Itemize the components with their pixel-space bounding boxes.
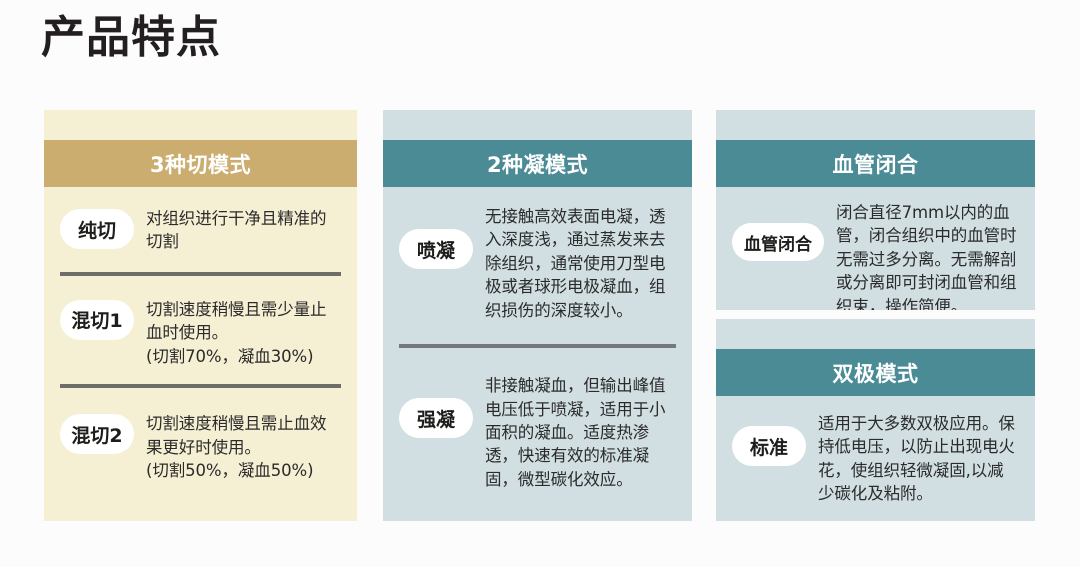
- card-bipolar-mode: 双极模式 标准 适用于大多数双极应用。保持低电压，以防止出现电火花，使组织轻微凝…: [716, 319, 1035, 521]
- mode-description: 切割速度稍慢且需止血效果更好时使用。 (切割50%，凝血50%): [134, 412, 341, 482]
- mode-description: 无接触高效表面电凝，透入深度浅，通过蒸发来去除组织，通常使用刀型电极或者球形电极…: [473, 205, 676, 322]
- list-item: 喷凝 无接触高效表面电凝，透入深度浅，通过蒸发来去除组织，通常使用刀型电极或者球…: [383, 187, 692, 344]
- mode-description: 对组织进行干净且精准的切割: [134, 207, 341, 254]
- mode-label-pill: 混切1: [60, 300, 134, 340]
- mode-label-pill: 标准: [732, 426, 806, 466]
- card-cut-modes-header: 3种切模式: [44, 140, 357, 187]
- card-top-spacer: [716, 110, 1035, 140]
- mode-description: 切割速度稍慢且需少量止血时使用。 (切割70%，凝血30%): [134, 298, 341, 368]
- card-cut-modes-body: 纯切 对组织进行干净且精准的切割 混切1 切割速度稍慢且需少量止血时使用。 (切…: [44, 187, 357, 498]
- mode-label-pill: 血管闭合: [732, 223, 824, 261]
- page-title: 产品特点: [41, 14, 221, 62]
- card-coag-modes-header: 2种凝模式: [383, 140, 692, 187]
- list-item: 混切2 切割速度稍慢且需止血效果更好时使用。 (切割50%，凝血50%): [44, 388, 357, 498]
- list-item: 血管闭合 闭合直径7mm以内的血管，闭合组织中的血管时无需过多分离。无需解剖或分…: [716, 187, 1035, 310]
- list-item: 强凝 非接触凝血，但输出峰值电压低于喷凝，适用于小面积的凝血。适度热渗透，快速有…: [383, 348, 692, 509]
- mode-description: 非接触凝血，但输出峰值电压低于喷凝，适用于小面积的凝血。适度热渗透，快速有效的标…: [473, 374, 676, 491]
- card-coag-modes-body: 喷凝 无接触高效表面电凝，透入深度浅，通过蒸发来去除组织，通常使用刀型电极或者球…: [383, 187, 692, 509]
- list-item: 混切1 切割速度稍慢且需少量止血时使用。 (切割70%，凝血30%): [44, 276, 357, 384]
- card-top-spacer: [716, 319, 1035, 349]
- card-vessel-sealing-body: 血管闭合 闭合直径7mm以内的血管，闭合组织中的血管时无需过多分离。无需解剖或分…: [716, 187, 1035, 310]
- mode-description: 闭合直径7mm以内的血管，闭合组织中的血管时无需过多分离。无需解剖或分离即可封闭…: [824, 201, 1019, 310]
- mode-label-pill: 强凝: [399, 398, 473, 438]
- list-item: 标准 适用于大多数双极应用。保持低电压，以防止出现电火花，使组织轻微凝固,以减少…: [716, 396, 1035, 506]
- card-bipolar-mode-header: 双极模式: [716, 349, 1035, 396]
- card-vessel-sealing: 血管闭合 血管闭合 闭合直径7mm以内的血管，闭合组织中的血管时无需过多分离。无…: [716, 110, 1035, 310]
- mode-label-pill: 喷凝: [399, 229, 473, 269]
- list-item: 纯切 对组织进行干净且精准的切割: [44, 187, 357, 272]
- mode-label-pill: 纯切: [60, 209, 134, 249]
- card-cut-modes: 3种切模式 纯切 对组织进行干净且精准的切割 混切1 切割速度稍慢且需少量止血时…: [44, 110, 357, 521]
- card-top-spacer: [383, 110, 692, 140]
- mode-label-pill: 混切2: [60, 414, 134, 454]
- card-bipolar-mode-body: 标准 适用于大多数双极应用。保持低电压，以防止出现电火花，使组织轻微凝固,以减少…: [716, 396, 1035, 506]
- mode-description: 适用于大多数双极应用。保持低电压，以防止出现电火花，使组织轻微凝固,以减少碳化及…: [806, 412, 1019, 506]
- card-vessel-sealing-header: 血管闭合: [716, 140, 1035, 187]
- card-top-spacer: [44, 110, 357, 140]
- card-coag-modes: 2种凝模式 喷凝 无接触高效表面电凝，透入深度浅，通过蒸发来去除组织，通常使用刀…: [383, 110, 692, 521]
